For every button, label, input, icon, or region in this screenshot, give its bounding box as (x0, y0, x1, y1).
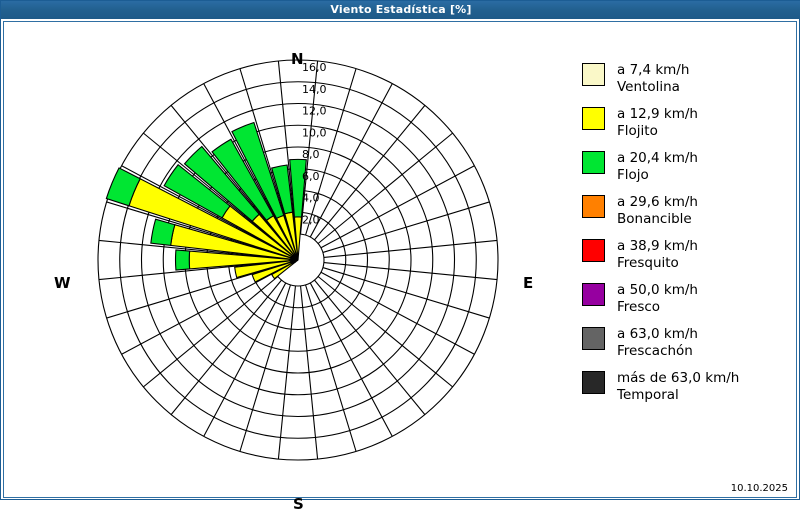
legend-color-swatch (582, 63, 605, 86)
compass-label-north: N (291, 50, 304, 68)
legend-speed-label: a 50,0 km/h (617, 282, 698, 298)
radial-tick-label: 16,0 (302, 61, 327, 74)
legend-speed-label: a 29,6 km/h (617, 194, 698, 210)
legend-item[interactable]: a 50,0 km/hFresco (582, 282, 792, 315)
wind-rose-petals (106, 123, 306, 282)
radial-tick-label: 12,0 (302, 105, 327, 118)
radial-tick-label: 4,0 (302, 192, 320, 205)
legend-label: a 20,4 km/hFlojo (617, 150, 698, 183)
legend-color-swatch (582, 239, 605, 262)
legend-color-swatch (582, 195, 605, 218)
chart-canvas: 2,04,06,08,010,012,014,016,0 N E S W a 7… (3, 21, 797, 498)
legend-color-swatch (582, 151, 605, 174)
legend: a 7,4 km/hVentolinaa 12,9 km/hFlojitoa 2… (582, 62, 792, 414)
legend-color-swatch (582, 327, 605, 350)
legend-name-label: Flojito (617, 123, 698, 140)
legend-item[interactable]: más de 63,0 km/hTemporal (582, 370, 792, 403)
date-stamp: 10.10.2025 (731, 483, 788, 494)
legend-color-swatch (582, 283, 605, 306)
compass-label-west: W (54, 274, 71, 292)
legend-color-swatch (582, 107, 605, 130)
legend-name-label: Flojo (617, 167, 698, 184)
legend-speed-label: a 7,4 km/h (617, 62, 689, 78)
legend-name-label: Frescachón (617, 343, 698, 360)
legend-label: a 63,0 km/hFrescachón (617, 326, 698, 359)
legend-name-label: Temporal (617, 387, 739, 404)
wind-rose-segment (176, 250, 190, 270)
grid-spoke (306, 285, 357, 452)
legend-label: a 7,4 km/hVentolina (617, 62, 689, 95)
legend-item[interactable]: a 29,6 km/hBonancible (582, 194, 792, 227)
grid-spoke (323, 202, 490, 253)
legend-speed-label: más de 63,0 km/h (617, 370, 739, 386)
legend-label: más de 63,0 km/hTemporal (617, 370, 739, 403)
legend-speed-label: a 12,9 km/h (617, 106, 698, 122)
legend-color-swatch (582, 371, 605, 394)
radial-tick-label: 10,0 (302, 126, 327, 139)
wind-rose-segment (151, 219, 175, 245)
wind-rose-window: Viento Estadística [%] 2,04,06,08,010,01… (0, 0, 800, 500)
legend-label: a 29,6 km/hBonancible (617, 194, 698, 227)
radial-tick-label: 14,0 (302, 83, 327, 96)
legend-name-label: Ventolina (617, 79, 689, 96)
legend-name-label: Bonancible (617, 211, 698, 228)
radial-tick-label: 2,0 (302, 213, 320, 226)
radial-tick-label: 8,0 (302, 148, 320, 161)
legend-item[interactable]: a 20,4 km/hFlojo (582, 150, 792, 183)
window-title-bar: Viento Estadística [%] (1, 1, 800, 19)
legend-label: a 12,9 km/hFlojito (617, 106, 698, 139)
grid-spoke (107, 268, 274, 319)
legend-label: a 38,9 km/hFresquito (617, 238, 698, 271)
legend-label: a 50,0 km/hFresco (617, 282, 698, 315)
window-title: Viento Estadística [%] (330, 3, 471, 16)
compass-label-east: E (523, 274, 533, 292)
legend-speed-label: a 63,0 km/h (617, 326, 698, 342)
legend-item[interactable]: a 38,9 km/hFresquito (582, 238, 792, 271)
legend-name-label: Fresquito (617, 255, 698, 272)
legend-name-label: Fresco (617, 299, 698, 316)
legend-item[interactable]: a 7,4 km/hVentolina (582, 62, 792, 95)
radial-axis-labels: 2,04,06,08,010,012,014,016,0 (302, 61, 327, 226)
legend-speed-label: a 38,9 km/h (617, 238, 698, 254)
grid-spoke (240, 285, 291, 452)
legend-item[interactable]: a 12,9 km/hFlojito (582, 106, 792, 139)
compass-label-south: S (293, 495, 304, 513)
legend-speed-label: a 20,4 km/h (617, 150, 698, 166)
grid-spoke (323, 268, 490, 319)
radial-tick-label: 6,0 (302, 170, 320, 183)
legend-item[interactable]: a 63,0 km/hFrescachón (582, 326, 792, 359)
